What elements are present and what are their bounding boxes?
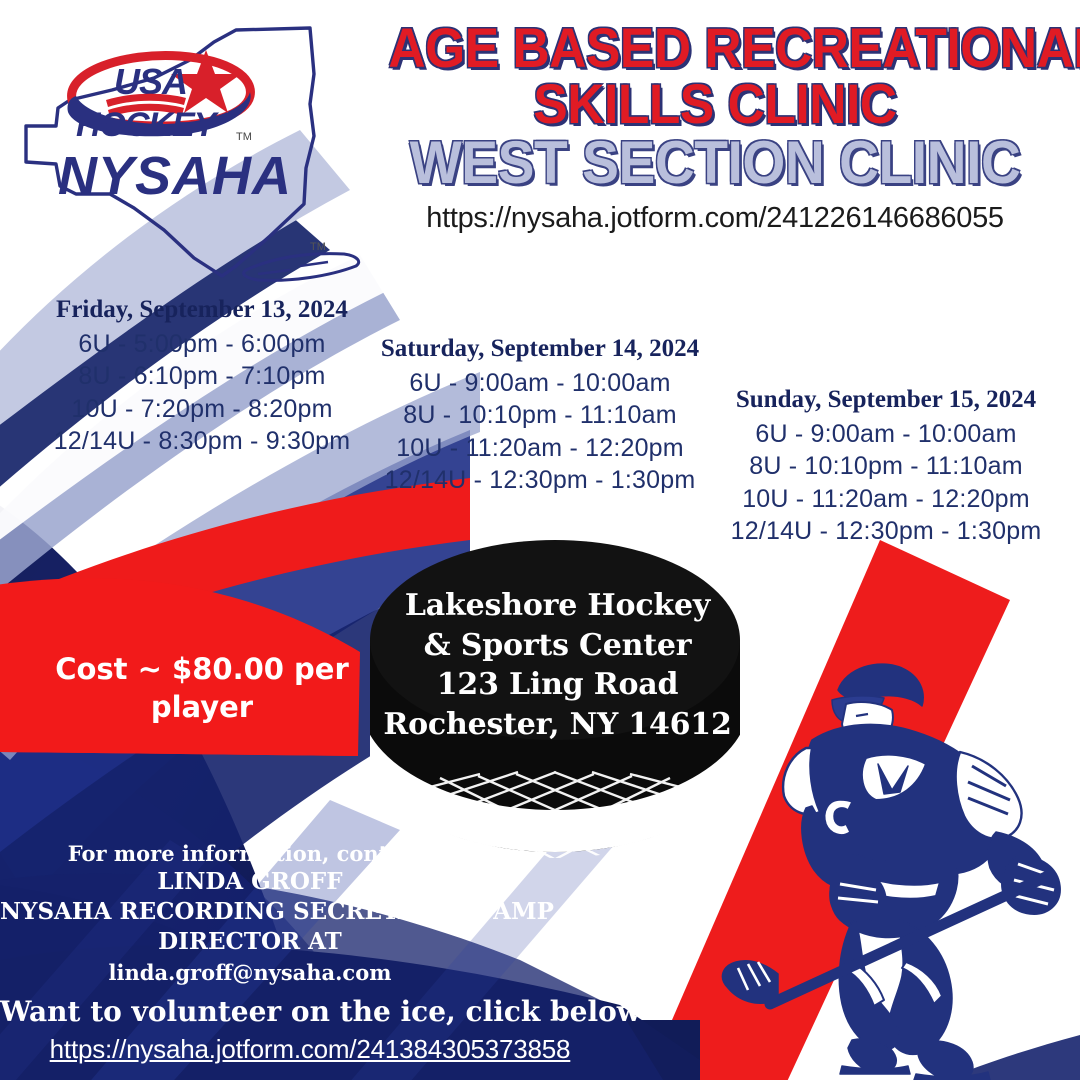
schedule-session: 8U - 10:10pm - 11:10am	[697, 450, 1075, 482]
schedule-session: 10U - 11:20am - 12:20pm	[697, 483, 1075, 515]
schedule-session: 6U - 9:00am - 10:00am	[697, 418, 1075, 450]
schedule-session: 10U - 7:20pm - 8:20pm	[22, 393, 382, 425]
schedule-session: 10U - 11:20am - 12:20pm	[345, 432, 735, 464]
schedule-session: 12/14U - 12:30pm - 1:30pm	[697, 515, 1075, 547]
cost-line-1: Cost ~ $80.00 per	[42, 650, 362, 688]
schedule-session: 6U - 5:00pm - 6:00pm	[22, 328, 382, 360]
volunteer-heading: Want to volunteer on the ice, click belo…	[0, 995, 620, 1028]
title-block: AGE BASED RECREATIONAL SKILLS CLINIC WES…	[360, 22, 1070, 235]
nysaha-wordmark: NYSAHA	[58, 146, 292, 206]
volunteer-block: Want to volunteer on the ice, click belo…	[0, 995, 620, 1065]
registration-url[interactable]: https://nysaha.jotform.com/2412261466860…	[360, 202, 1070, 235]
svg-text:TM: TM	[310, 241, 326, 253]
schedule-session: 8U - 6:10pm - 7:10pm	[22, 360, 382, 392]
schedule-session: 12/14U - 8:30pm - 9:30pm	[22, 425, 382, 457]
usa-hockey-emblem: USA HOCKEY TM	[67, 50, 251, 144]
title-line-1: AGE BASED RECREATIONAL	[388, 22, 1041, 74]
venue-line-4: Rochester, NY 14612	[375, 705, 740, 745]
schedule-session: 6U - 9:00am - 10:00am	[345, 367, 735, 399]
venue-line-2: & Sports Center	[375, 626, 740, 666]
nysaha-logo: TM USA HOCKEY TM NYSAHA	[14, 8, 374, 293]
schedule-friday: Friday, September 13, 2024 6U - 5:00pm -…	[22, 296, 382, 457]
contact-line-1: For more information, contact:	[0, 840, 500, 867]
venue-line-3: 123 Ling Road	[375, 665, 740, 705]
volunteer-url[interactable]: https://nysaha.jotform.com/2413843053738…	[0, 1034, 620, 1065]
contact-title-line-2: DIRECTOR AT	[0, 927, 500, 957]
cost-banner: Cost ~ $80.00 per player	[42, 650, 362, 727]
title-line-3: WEST SECTION CLINIC	[388, 135, 1041, 190]
svg-text:TM: TM	[236, 131, 252, 143]
venue-line-1: Lakeshore Hockey	[375, 586, 740, 626]
contact-block: For more information, contact: LINDA GRO…	[0, 840, 500, 986]
svg-text:HOCKEY: HOCKEY	[76, 106, 220, 144]
schedule-day-heading: Saturday, September 14, 2024	[345, 335, 735, 363]
contact-email[interactable]: linda.groff@nysaha.com	[0, 959, 500, 986]
cost-line-2: player	[42, 688, 362, 726]
schedule-day-heading: Sunday, September 15, 2024	[697, 386, 1075, 414]
schedule-session: 8U - 10:10pm - 11:10am	[345, 399, 735, 431]
schedule-saturday: Saturday, September 14, 2024 6U - 9:00am…	[345, 335, 735, 496]
schedule-session: 12/14U - 12:30pm - 1:30pm	[345, 464, 735, 496]
schedule-day-heading: Friday, September 13, 2024	[22, 296, 382, 324]
venue-address: Lakeshore Hockey & Sports Center 123 Lin…	[375, 586, 740, 744]
schedule-sunday: Sunday, September 15, 2024 6U - 9:00am -…	[697, 386, 1075, 547]
contact-title-line-1: NYSAHA RECORDING SECRETARY / CAMP	[0, 897, 500, 927]
contact-name: LINDA GROFF	[0, 867, 500, 897]
title-line-2: SKILLS CLINIC	[388, 78, 1041, 130]
flyer-poster: TM USA HOCKEY TM NYSAHA AGE BASED	[0, 0, 1080, 1080]
